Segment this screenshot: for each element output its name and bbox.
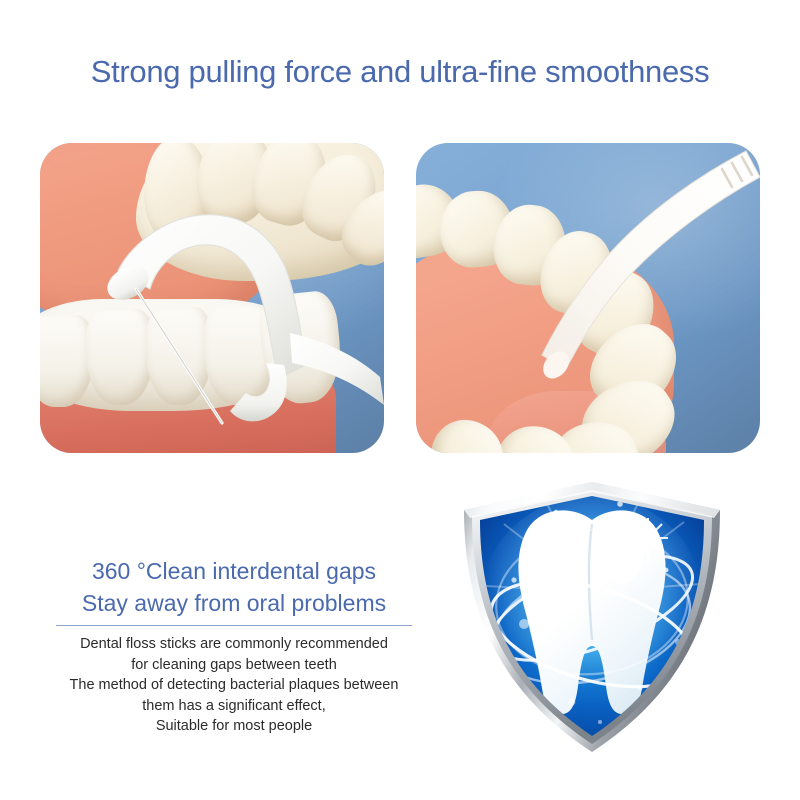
subheading-line-1: 360 °Clean interdental gaps [44, 558, 424, 585]
body-copy-line: Suitable for most people [34, 716, 434, 737]
lower-tooth [146, 307, 212, 405]
section-divider [56, 625, 412, 626]
page-title: Strong pulling force and ultra-fine smoo… [0, 54, 800, 90]
lower-tooth [86, 309, 154, 405]
subheading-line-2: Stay away from oral problems [44, 590, 424, 617]
body-copy-line: for cleaning gaps between teeth [34, 655, 434, 676]
shield-contents [479, 496, 706, 724]
body-copy-line: Dental floss sticks are commonly recomme… [34, 634, 434, 655]
product-feature-banner: Strong pulling force and ultra-fine smoo… [0, 0, 800, 800]
star-glint [628, 518, 668, 558]
photo-interdental-pick-on-teeth [416, 143, 760, 453]
dental-protection-shield [452, 474, 732, 760]
body-copy: Dental floss sticks are commonly recomme… [34, 634, 434, 737]
photo-floss-pick-between-teeth [40, 143, 384, 453]
body-copy-line: them has a significant effect, [34, 696, 434, 717]
body-copy-line: The method of detecting bacterial plaque… [34, 675, 434, 696]
